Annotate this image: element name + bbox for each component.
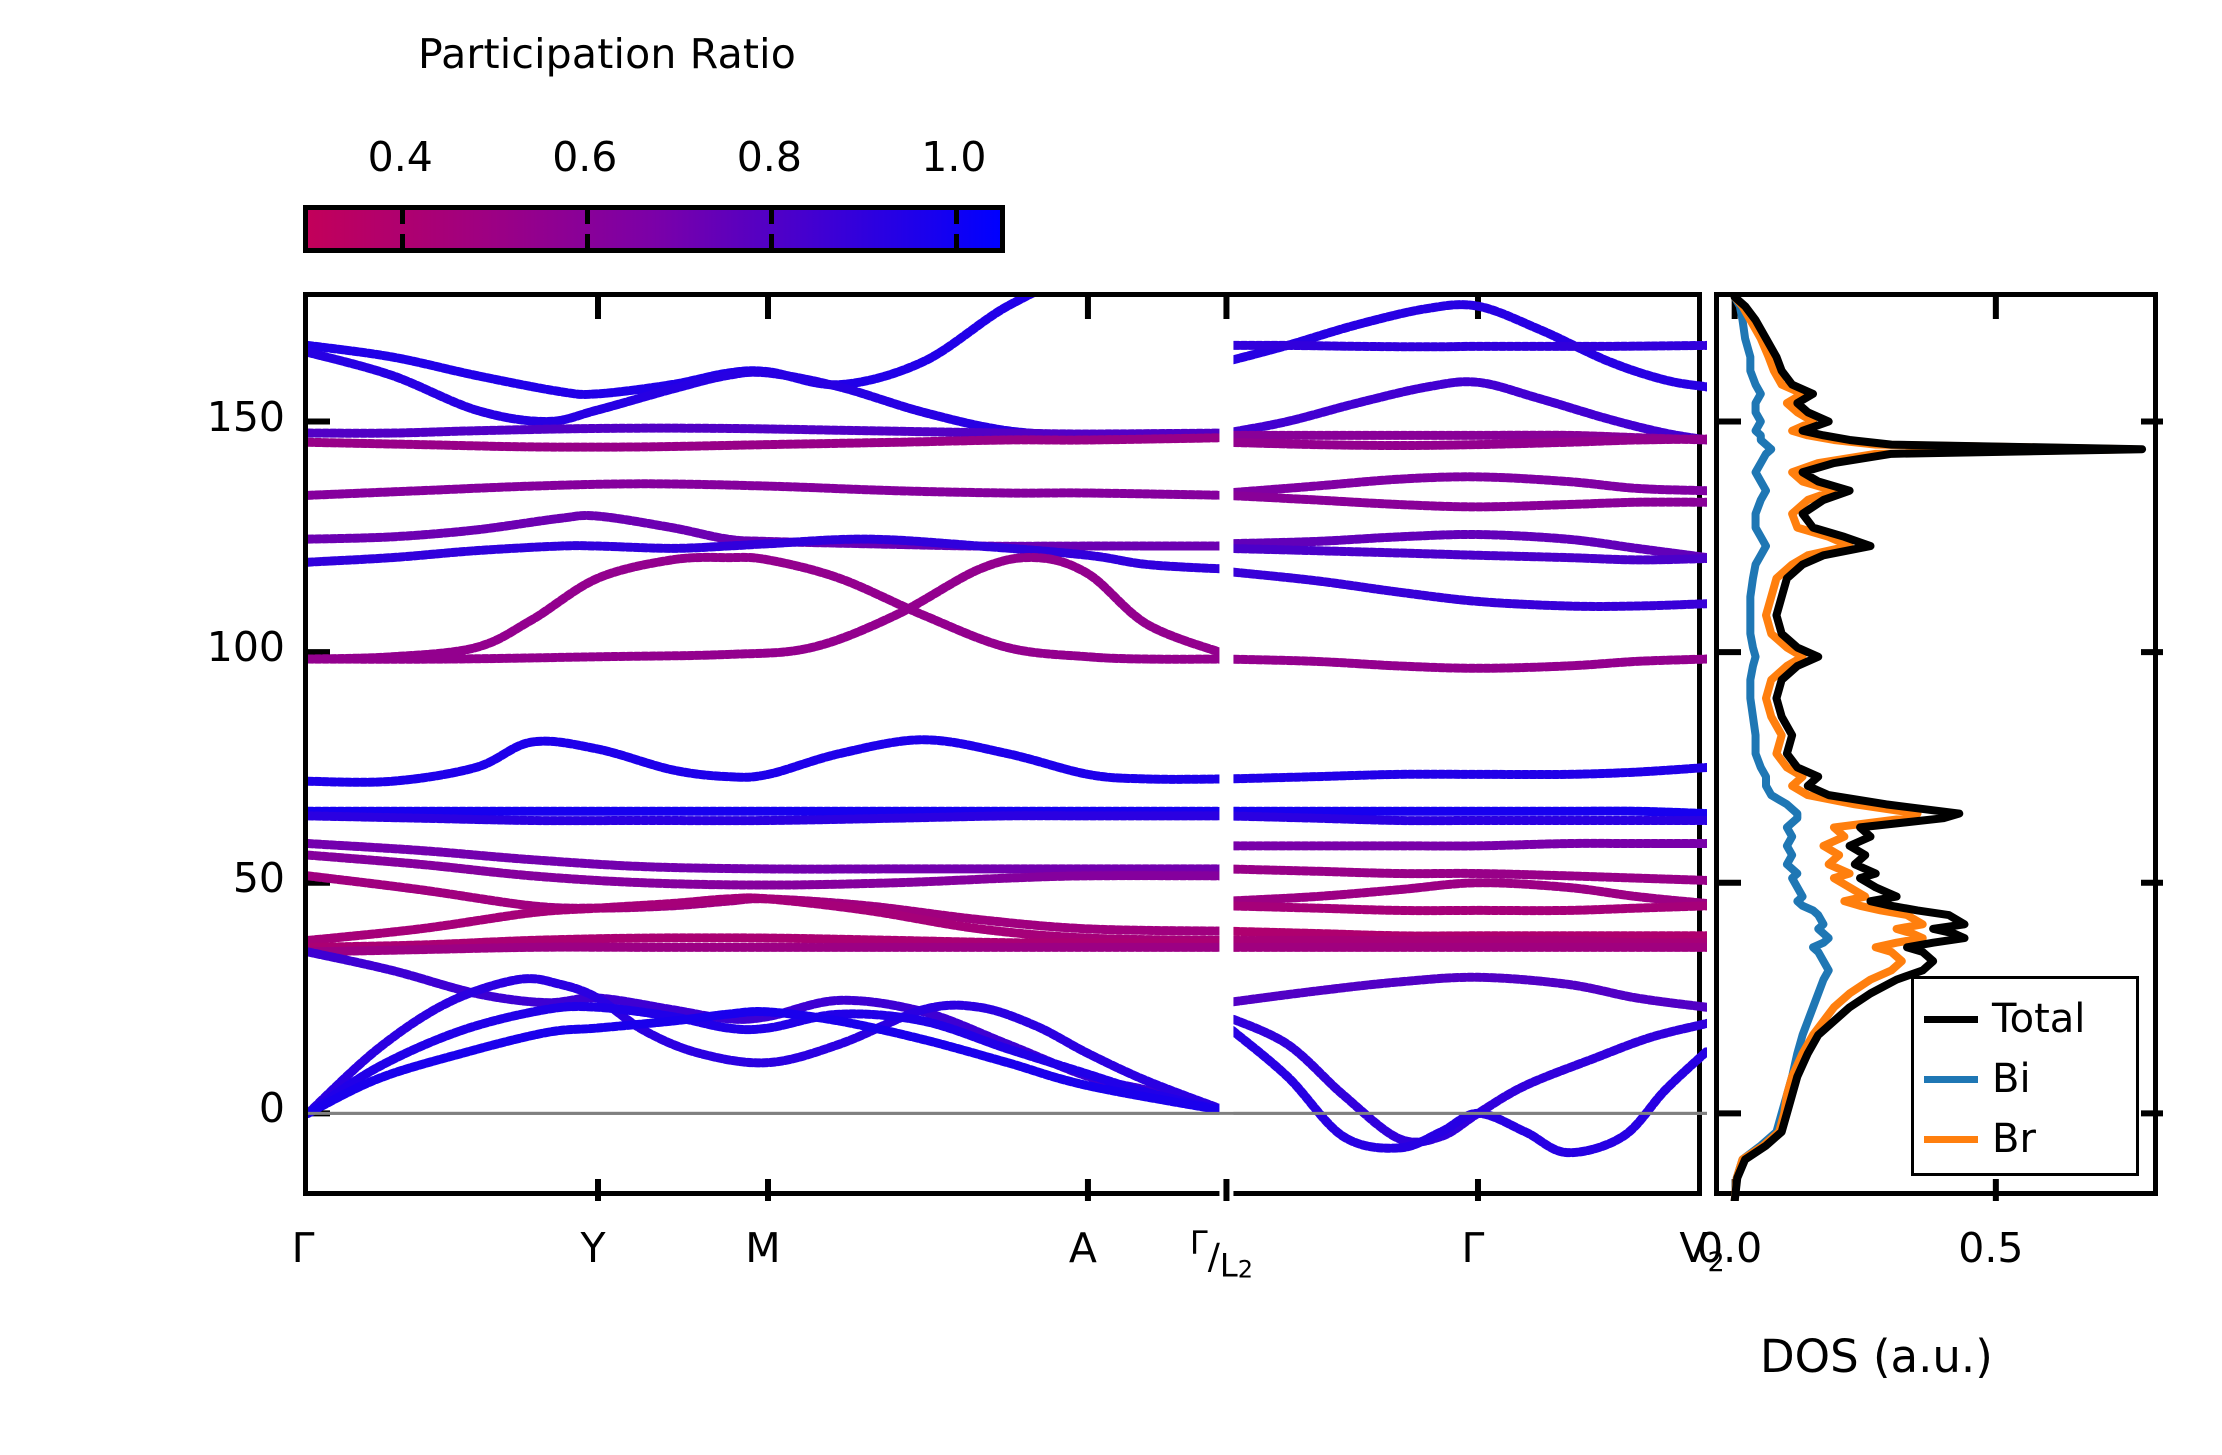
legend-label: Total — [1992, 999, 2085, 1039]
path-break-gap — [1219, 297, 1233, 1201]
phonon-band — [308, 557, 1226, 659]
colorbar-tick-label: 0.6 — [552, 133, 617, 181]
colorbar-title: Participation Ratio — [418, 30, 796, 78]
band-x-tick-label: Γ/L2 — [1190, 1224, 1253, 1284]
phonon-band — [308, 484, 1226, 496]
legend-item: Bi — [1924, 1051, 2031, 1107]
phonon-band — [1226, 495, 1707, 507]
phonon-band — [1226, 883, 1707, 904]
legend-swatch — [1924, 1016, 1978, 1023]
colorbar-gradient — [308, 210, 1000, 248]
phonon-band — [308, 947, 1226, 952]
legend-label: Bi — [1992, 1059, 2031, 1099]
band-y-tick-label: 0 — [155, 1084, 285, 1132]
legend-swatch — [1924, 1136, 1978, 1143]
phonon-band — [1226, 906, 1707, 911]
colorbar-tick-label: 0.4 — [368, 133, 433, 181]
phonon-band — [1226, 439, 1707, 445]
colorbar-tick-label: 0.8 — [737, 133, 802, 181]
legend-swatch — [1924, 1076, 1978, 1083]
colorbar-tick — [585, 210, 590, 224]
phonon-band — [308, 438, 1226, 448]
phonon-band — [1226, 767, 1707, 779]
colorbar-tick-labels: 0.40.60.81.0 — [0, 133, 2222, 183]
phonon-band — [308, 740, 1226, 783]
phonon-band — [1226, 931, 1707, 936]
colorbar-tick — [954, 234, 959, 248]
dos-x-tick-label: 0.0 — [1697, 1224, 1762, 1272]
band-x-tick-label: Γ — [1462, 1224, 1485, 1272]
dos-x-tick-label: 0.5 — [1958, 1224, 2023, 1272]
phonon-band — [1226, 811, 1707, 813]
phonon-band — [1226, 843, 1707, 846]
band-y-tick-label: 50 — [155, 854, 285, 902]
phonon-band — [1226, 345, 1707, 346]
phonon-band — [308, 979, 1226, 1114]
band-x-tick-label: A — [1069, 1224, 1097, 1272]
band-x-tick-label: M — [745, 1224, 780, 1272]
band-y-tick-label: 100 — [155, 623, 285, 671]
colorbar-tick-label: 1.0 — [921, 133, 986, 181]
band-structure-plot — [308, 297, 1707, 1201]
phonon-band — [1226, 659, 1707, 668]
band-x-tick-label: Y — [580, 1224, 605, 1272]
phonon-band — [1226, 940, 1707, 943]
phonon-band — [1226, 977, 1707, 1007]
colorbar-tick — [769, 234, 774, 248]
phonon-band — [308, 816, 1226, 821]
dos-x-axis-label: DOS (a.u.) — [1760, 1330, 1993, 1383]
phonon-band — [1226, 571, 1707, 606]
phonon-band — [1226, 477, 1707, 493]
legend-label: Br — [1992, 1119, 2036, 1159]
legend-item: Br — [1924, 1111, 2036, 1167]
phonon-band — [308, 428, 1226, 434]
band-structure-axes — [303, 292, 1702, 1196]
colorbar — [303, 205, 1005, 253]
dos-legend: TotalBiBr — [1911, 976, 2139, 1176]
colorbar-tick — [400, 210, 405, 224]
colorbar-tick — [769, 210, 774, 224]
legend-item: Total — [1924, 991, 2085, 1047]
phonon-band — [1226, 816, 1707, 821]
colorbar-tick — [400, 234, 405, 248]
colorbar-tick — [585, 234, 590, 248]
band-y-tick-label: 150 — [155, 393, 285, 441]
figure-root: Participation Ratio 0.40.60.81.0 1501005… — [0, 0, 2222, 1455]
colorbar-tick — [954, 210, 959, 224]
band-x-tick-label: Γ — [292, 1224, 315, 1272]
